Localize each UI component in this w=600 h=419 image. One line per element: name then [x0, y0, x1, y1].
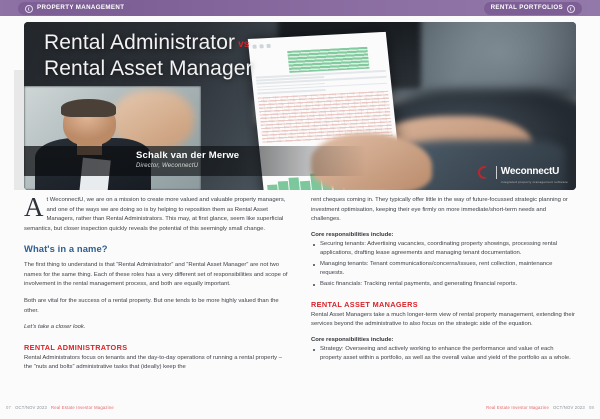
weconnectu-c-icon	[25, 5, 33, 13]
speaker-namebar: Schalk van der Merwe Director, Weconnect…	[24, 146, 366, 176]
footer-right: Real Estate Investor Magazine OCT/NOV 20…	[486, 405, 594, 410]
weconnectu-c-icon	[477, 165, 492, 180]
speaker-namebar-text: Schalk van der Merwe Director, Weconnect…	[136, 150, 239, 169]
footer-magazine-right: Real Estate Investor Magazine	[486, 405, 549, 410]
paragraph-rent-cheques: rent cheques coming in. They typically o…	[311, 196, 576, 225]
logo-word-u: U	[552, 166, 559, 177]
paragraph-roles-differ: The first thing to understand is that “R…	[24, 261, 289, 290]
list-item: Securing tenants: Advertising vacancies,…	[311, 240, 576, 259]
bar	[288, 177, 299, 190]
bar	[278, 181, 289, 190]
footer-issue-right: OCT/NOV 2023	[553, 405, 585, 410]
logo-divider	[496, 166, 497, 179]
page-footer: 07 OCT/NOV 2023 Real Estate Investor Mag…	[0, 405, 600, 415]
core-responsibilities-label-1: Core responsibilities include:	[311, 232, 576, 238]
hero-image: Rental Administratorvs Rental Asset Mana…	[24, 22, 576, 190]
footer-left: 07 OCT/NOV 2023 Real Estate Investor Mag…	[6, 405, 114, 410]
footer-issue-left: OCT/NOV 2023	[15, 405, 47, 410]
bar	[300, 181, 311, 190]
heading-rental-administrators: RENTAL ADMINISTRATORS	[24, 343, 289, 352]
intro-paragraph-text: t WeconnectU, we are on a mission to cre…	[24, 197, 285, 232]
hero-vs-label: vs	[238, 39, 249, 50]
logo-wordmark: WeconnectU	[501, 166, 559, 177]
dashboard-widget-icon	[252, 45, 256, 49]
footer-magazine-left: Real Estate Investor Magazine	[51, 405, 114, 410]
paragraph-asset-managers-intro: Rental Asset Managers take a much longer…	[311, 311, 576, 330]
intro-paragraph: At WeconnectU, we are on a mission to cr…	[24, 196, 289, 234]
core-responsibilities-label-2: Core responsibilities include:	[311, 337, 576, 343]
list-item: Basic financials: Tracking rental paymen…	[311, 280, 576, 290]
bar	[267, 185, 278, 190]
weconnectu-logo: WeconnectU integrated property managemen…	[477, 161, 568, 185]
section-pill-right-label: RENTAL PORTFOLIOS	[491, 5, 563, 11]
heading-whats-in-a-name: What's in a name?	[24, 243, 289, 254]
hero-headline: Rental Administratorvs Rental Asset Mana…	[44, 30, 253, 81]
footer-page-number-left: 07	[6, 405, 11, 410]
logo-text-block: WeconnectU integrated property managemen…	[501, 161, 568, 185]
list-item: Managing tenants: Tenant communications/…	[311, 260, 576, 279]
footer-page-number-right: 08	[589, 405, 594, 410]
paragraph-closer-look: Let’s take a closer look.	[24, 323, 289, 333]
magazine-page: PROPERTY MANAGEMENT RENTAL PORTFOLIOS	[0, 0, 600, 419]
paragraph-administrators-intro: Rental Administrators focus on tenants a…	[24, 354, 289, 373]
logo-word-we: We	[501, 166, 515, 177]
dashboard-widget-icon	[266, 44, 270, 48]
hero-headline-line1: Rental Administrator	[44, 31, 235, 54]
top-purple-band: PROPERTY MANAGEMENT RENTAL PORTFOLIOS	[0, 0, 600, 16]
drop-cap: A	[24, 196, 47, 217]
logo-tagline: integrated property management software	[501, 180, 568, 184]
asset-manager-responsibilities-list: Strategy: Overseeing and actively workin…	[311, 345, 576, 364]
heading-rental-asset-managers: RENTAL ASSET MANAGERS	[311, 300, 576, 309]
right-column: rent cheques coming in. They typically o…	[311, 196, 576, 380]
section-pill-rental-portfolios[interactable]: RENTAL PORTFOLIOS	[484, 2, 582, 15]
speaker-name: Schalk van der Merwe	[136, 150, 239, 161]
section-pill-property-management[interactable]: PROPERTY MANAGEMENT	[18, 2, 131, 15]
headshot-hair	[61, 99, 116, 117]
article-columns: At WeconnectU, we are on a mission to cr…	[24, 196, 576, 380]
paragraph-both-vital: Both are vital for the success of a rent…	[24, 297, 289, 316]
hero-headline-line2: Rental Asset Manager	[44, 57, 253, 80]
dashboard-green-table	[287, 47, 370, 73]
section-pill-left-label: PROPERTY MANAGEMENT	[37, 5, 124, 11]
logo-word-connect: connect	[515, 166, 552, 177]
left-column: At WeconnectU, we are on a mission to cr…	[24, 196, 289, 380]
administrator-responsibilities-list: Securing tenants: Advertising vacancies,…	[311, 240, 576, 290]
list-item: Strategy: Overseeing and actively workin…	[311, 345, 576, 364]
dashboard-widget-icon	[259, 44, 263, 48]
weconnectu-c-icon	[567, 5, 575, 13]
speaker-role: Director, WeconnectU	[136, 163, 239, 169]
